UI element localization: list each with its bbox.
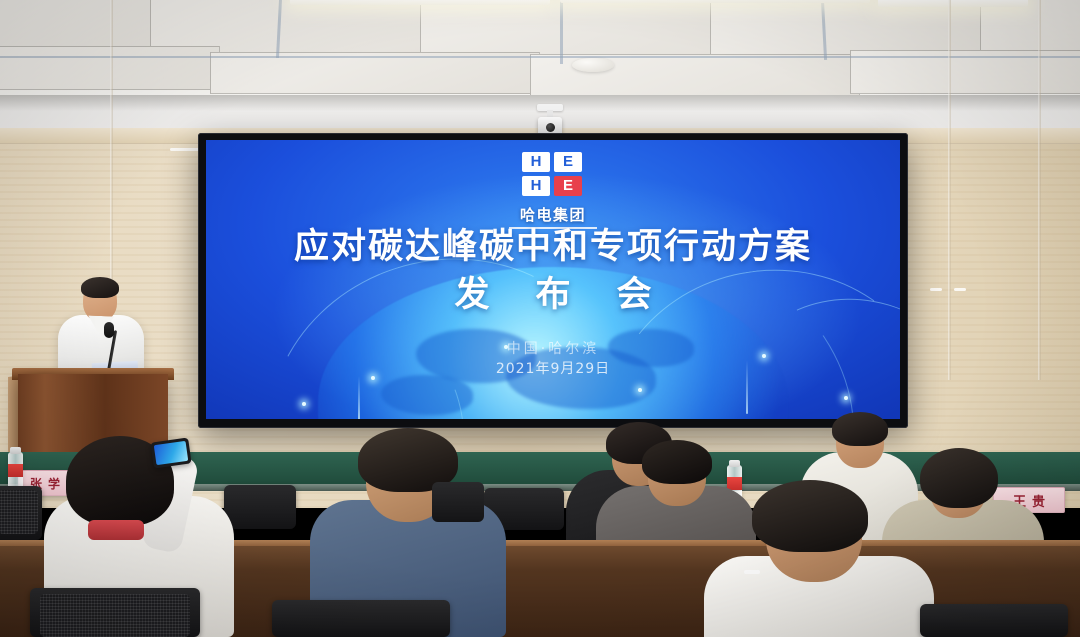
ceiling-light-strip [878, 0, 1028, 7]
ceiling [0, 0, 1080, 105]
attendee-photographer-scarf [88, 520, 144, 540]
bottle-label [8, 464, 23, 477]
office-chair [920, 604, 1068, 637]
camera-lens-icon [546, 123, 555, 132]
logo-letter-h2: H [522, 177, 550, 195]
office-chair [224, 485, 296, 529]
attendee-grey-sweater-hair [642, 440, 712, 484]
slide-title-line2: 发布会 [206, 266, 900, 317]
led-display-bezel: H E H E 哈电集团 应对碳达峰碳中和专项行动方案 发布会 中国·哈尔滨 2… [198, 133, 908, 428]
attendee-denim-collar [432, 482, 484, 522]
face-mask-strap [744, 570, 760, 574]
smoke-detector-icon [572, 58, 614, 72]
ceiling-light-strip [560, 0, 870, 3]
conference-room-photo: H E H E 哈电集团 应对碳达峰碳中和专项行动方案 发布会 中国·哈尔滨 2… [0, 0, 1080, 637]
bottle-cap [729, 460, 740, 467]
wall-seam [1038, 0, 1041, 380]
logo-letter-h: H [522, 153, 550, 171]
attendee-light-shirt-hair [832, 412, 888, 446]
slide-location: 中国·哈尔滨 [206, 338, 900, 358]
chair-mesh-back [40, 594, 190, 637]
network-node [844, 396, 848, 400]
attendee-beige-jacket-hair [920, 448, 998, 508]
logo-letter-e: E [554, 153, 582, 171]
slide-date: 2021年9月29日 [206, 358, 900, 378]
office-chair [272, 600, 450, 637]
wall-seam [948, 0, 951, 380]
light-beam [358, 376, 360, 419]
presentation-screen: H E H E 哈电集团 应对碳达峰碳中和专项行动方案 发布会 中国·哈尔滨 2… [206, 140, 900, 419]
ceiling-light-strip [290, 0, 550, 5]
bottle-cap [10, 447, 21, 454]
attendee-white-shirt-hair [752, 480, 868, 552]
logo-mark-icon: H E H E [522, 152, 584, 196]
slide-title-line1: 应对碳达峰碳中和专项行动方案 [206, 218, 900, 269]
wall-highlight [930, 288, 942, 291]
wall-highlight [170, 148, 200, 151]
speaker-hair [81, 277, 119, 298]
microphone-icon [104, 322, 114, 338]
logo-letter-e2: E [554, 177, 582, 195]
network-node [638, 388, 642, 392]
chair-mesh-back [0, 490, 38, 534]
wall-highlight [954, 288, 966, 291]
network-node [302, 402, 306, 406]
